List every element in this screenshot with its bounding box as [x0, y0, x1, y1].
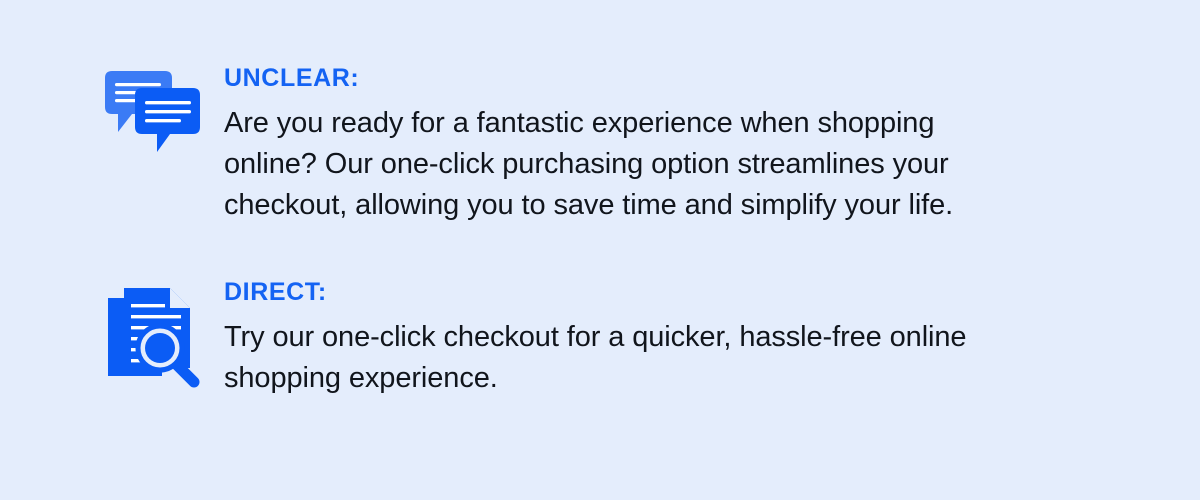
unclear-line-1: Are you ready for a fantastic experience… — [224, 103, 953, 144]
direct-line-2: shopping experience. — [224, 358, 966, 399]
direct-line-1: Try our one-click checkout for a quicker… — [224, 317, 966, 358]
unclear-eyebrow: UNCLEAR: — [224, 66, 953, 91]
chat-bubble-front — [135, 88, 200, 152]
unclear-block: UNCLEAR: Are you ready for a fantastic e… — [102, 66, 953, 226]
copy-comparison-card: UNCLEAR: Are you ready for a fantastic e… — [0, 0, 1200, 500]
unclear-text-slot: UNCLEAR: Are you ready for a fantastic e… — [202, 66, 953, 226]
direct-eyebrow: DIRECT: — [224, 280, 966, 305]
unclear-line-2: online? Our one-click purchasing option … — [224, 144, 953, 185]
document-magnifier-icon — [102, 280, 202, 389]
direct-text-slot: DIRECT: Try our one-click checkout for a… — [202, 280, 966, 399]
direct-block: DIRECT: Try our one-click checkout for a… — [102, 280, 966, 399]
chat-bubbles-icon — [102, 66, 202, 155]
direct-body-text: Try our one-click checkout for a quicker… — [224, 317, 966, 399]
unclear-body-text: Are you ready for a fantastic experience… — [224, 103, 953, 226]
unclear-line-3: checkout, allowing you to save time and … — [224, 185, 953, 226]
